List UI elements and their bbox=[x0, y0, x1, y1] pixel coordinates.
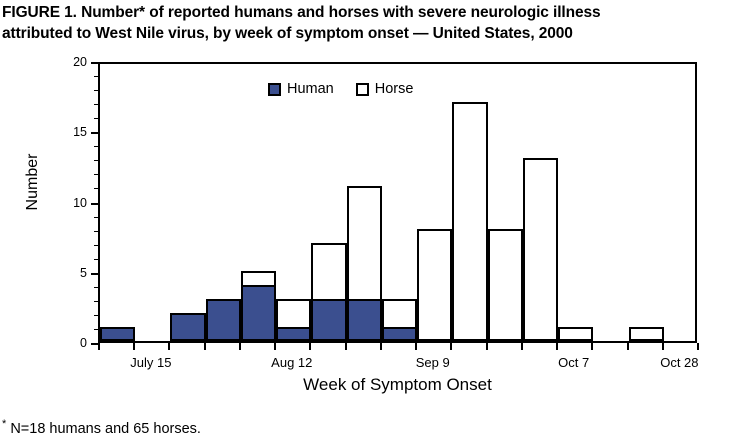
legend-item-horse: Horse bbox=[356, 81, 414, 97]
y-tick-major bbox=[91, 203, 98, 205]
y-tick-major bbox=[91, 132, 98, 134]
x-tick bbox=[309, 343, 311, 350]
bar-human bbox=[206, 299, 241, 341]
x-tick bbox=[627, 343, 629, 350]
x-tick bbox=[204, 343, 206, 350]
x-tick-label: Sep 9 bbox=[416, 355, 450, 370]
x-tick bbox=[591, 343, 593, 350]
figure-title: FIGURE 1. Number* of reported humans and… bbox=[2, 2, 747, 44]
x-tick bbox=[521, 343, 523, 350]
footnote-marker: * bbox=[2, 418, 6, 430]
x-tick bbox=[486, 343, 488, 350]
legend-swatch-horse-icon bbox=[356, 83, 369, 96]
legend-label-human: Human bbox=[287, 81, 334, 97]
bar-horse bbox=[452, 102, 487, 341]
bar-horse bbox=[417, 229, 452, 341]
x-tick bbox=[662, 343, 664, 350]
bar-horse bbox=[523, 158, 558, 341]
x-tick bbox=[450, 343, 452, 350]
x-tick bbox=[239, 343, 241, 350]
x-tick bbox=[274, 343, 276, 350]
x-tick-label: July 15 bbox=[130, 355, 171, 370]
legend-swatch-human-icon bbox=[268, 83, 281, 96]
chart-area: Number 05101520 Human Horse July 15Aug 1… bbox=[0, 55, 749, 365]
bar-horse bbox=[488, 229, 523, 341]
bar-human bbox=[311, 299, 346, 341]
plot-frame bbox=[98, 62, 697, 343]
chart-legend: Human Horse bbox=[268, 81, 413, 97]
bar-human bbox=[241, 285, 276, 341]
x-tick bbox=[415, 343, 417, 350]
y-tick-label: 10 bbox=[73, 196, 87, 210]
x-tick bbox=[133, 343, 135, 350]
bar-human bbox=[170, 313, 205, 341]
legend-item-human: Human bbox=[268, 81, 334, 97]
x-axis-title: Week of Symptom Onset bbox=[98, 375, 697, 395]
y-axis: 05101520 bbox=[0, 55, 98, 350]
bar-human bbox=[276, 327, 311, 341]
bar-human bbox=[100, 327, 135, 341]
x-tick bbox=[98, 343, 100, 350]
footnote-text: N=18 humans and 65 horses. bbox=[10, 421, 201, 437]
x-tick-label: Aug 12 bbox=[271, 355, 312, 370]
x-tick bbox=[380, 343, 382, 350]
x-tick-label: Oct 28 bbox=[660, 355, 698, 370]
y-tick-major bbox=[91, 273, 98, 275]
bar-human bbox=[382, 327, 417, 341]
y-tick-label: 15 bbox=[73, 125, 87, 139]
x-tick-label: Oct 7 bbox=[558, 355, 589, 370]
x-axis: July 15Aug 12Sep 9Oct 7Oct 28 bbox=[0, 343, 749, 353]
x-tick bbox=[697, 343, 699, 350]
x-tick bbox=[345, 343, 347, 350]
bar-horse bbox=[558, 327, 593, 341]
y-tick-label: 5 bbox=[80, 266, 87, 280]
legend-label-horse: Horse bbox=[375, 81, 414, 97]
x-tick bbox=[168, 343, 170, 350]
y-tick-major bbox=[91, 62, 98, 64]
figure-title-line-2: attributed to West Nile virus, by week o… bbox=[2, 23, 747, 44]
bar-human bbox=[347, 299, 382, 341]
figure-title-line-1: FIGURE 1. Number* of reported humans and… bbox=[2, 2, 747, 23]
bar-horse bbox=[629, 327, 664, 341]
x-tick bbox=[556, 343, 558, 350]
y-tick-label: 20 bbox=[73, 55, 87, 69]
figure-footnote: * N=18 humans and 65 horses. bbox=[2, 418, 201, 437]
